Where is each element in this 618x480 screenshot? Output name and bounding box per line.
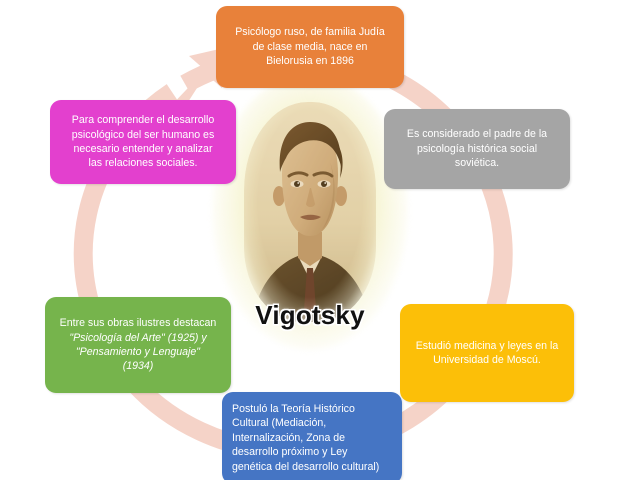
node-text-line: Bielorusia en 1896 bbox=[226, 54, 394, 68]
node-text-line: (1934) bbox=[55, 359, 221, 373]
node-historical-cultural-theory[interactable]: Postuló la Teoría HistóricoCultural (Med… bbox=[222, 392, 402, 480]
node-text-line: "Pensamiento y Lenguaje" bbox=[55, 345, 221, 359]
node-text-line: Internalización, Zona de bbox=[232, 431, 392, 445]
node-text-line: Psicólogo ruso, de familia Judía bbox=[226, 25, 394, 39]
node-social-relations-text: Para comprender el desarrollopsicológico… bbox=[60, 113, 226, 171]
node-text-line: desarrollo próximo y Ley bbox=[232, 445, 392, 459]
node-studies-text: Estudió medicina y leyes en laUniversida… bbox=[410, 339, 564, 368]
node-text-line: Estudió medicina y leyes en la bbox=[410, 339, 564, 353]
node-father-of-social-historical-psychology[interactable]: Es considerado el padre de lapsicología … bbox=[384, 109, 570, 189]
node-studies[interactable]: Estudió medicina y leyes en laUniversida… bbox=[400, 304, 574, 402]
node-historical-cultural-theory-text: Postuló la Teoría HistóricoCultural (Med… bbox=[232, 402, 392, 474]
node-text-line: psicología histórica social bbox=[394, 142, 560, 156]
node-text-line: las relaciones sociales. bbox=[60, 156, 226, 170]
node-works[interactable]: Entre sus obras ilustres destacan"Psicol… bbox=[45, 297, 231, 393]
node-text-line: Entre sus obras ilustres destacan bbox=[55, 316, 221, 330]
node-social-relations[interactable]: Para comprender el desarrollopsicológico… bbox=[50, 100, 236, 184]
page-title: Vigotsky bbox=[228, 300, 392, 331]
node-text-line: "Psicología del Arte" (1925) y bbox=[55, 331, 221, 345]
node-origin[interactable]: Psicólogo ruso, de familia Judíade clase… bbox=[216, 6, 404, 88]
node-text-line: soviética. bbox=[394, 156, 560, 170]
node-works-text: Entre sus obras ilustres destacan"Psicol… bbox=[55, 316, 221, 374]
node-father-of-social-historical-psychology-text: Es considerado el padre de lapsicología … bbox=[394, 127, 560, 170]
node-text-line: necesario entender y analizar bbox=[60, 142, 226, 156]
node-text-line: Para comprender el desarrollo bbox=[60, 113, 226, 127]
node-text-line: de clase media, nace en bbox=[226, 40, 394, 54]
node-text-line: Postuló la Teoría Histórico bbox=[232, 402, 392, 416]
node-text-line: Cultural (Mediación, bbox=[232, 416, 392, 430]
node-text-line: genética del desarrollo cultural) bbox=[232, 460, 392, 474]
node-text-line: psicológico del ser humano es bbox=[60, 128, 226, 142]
center-portrait bbox=[236, 96, 384, 328]
node-origin-text: Psicólogo ruso, de familia Judíade clase… bbox=[226, 25, 394, 68]
portrait-photo bbox=[244, 102, 376, 322]
node-text-line: Universidad de Moscú. bbox=[410, 353, 564, 367]
diagram-canvas: Vigotsky Psicólogo ruso, de familia Judí… bbox=[0, 0, 618, 480]
node-text-line: Es considerado el padre de la bbox=[394, 127, 560, 141]
